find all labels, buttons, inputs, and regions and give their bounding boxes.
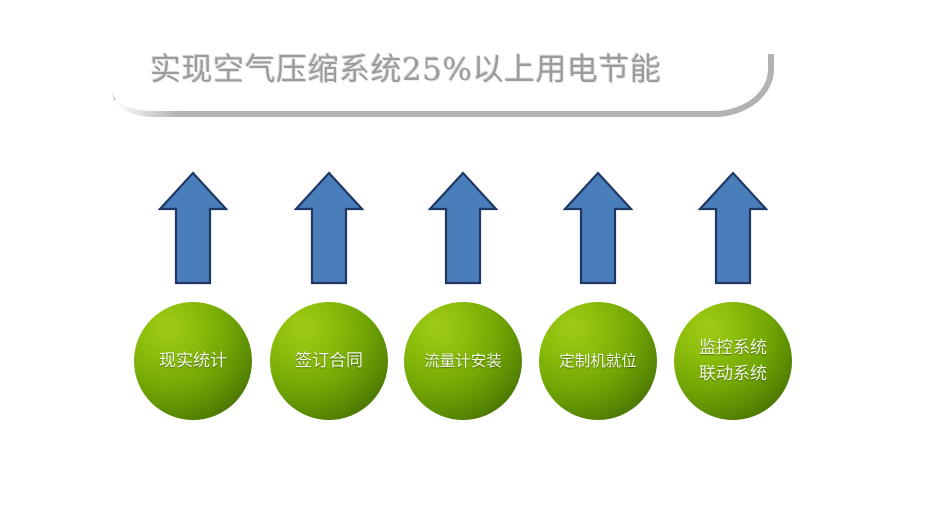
step-label-5: 监控系统 联动系统 xyxy=(699,335,767,387)
step-label-4: 定制机就位 xyxy=(559,350,637,373)
arrow-up-icon-3 xyxy=(428,170,498,286)
page-title: 实现空气压缩系统25%以上用电节能 xyxy=(150,48,730,92)
step-circle-4[interactable]: 定制机就位 xyxy=(539,302,657,420)
step-circle-5[interactable]: 监控系统 联动系统 xyxy=(674,302,792,420)
step-label-3: 流量计安装 xyxy=(424,350,502,373)
step-label-5-line2: 联动系统 xyxy=(699,364,767,384)
arrow-up-icon-4 xyxy=(563,170,633,286)
step-label-5-line1: 监控系统 xyxy=(699,338,767,358)
step-circle-2[interactable]: 签订合同 xyxy=(270,302,388,420)
arrow-up-icon-1 xyxy=(158,170,228,286)
step-circle-1[interactable]: 现实统计 xyxy=(134,302,252,420)
step-circle-3[interactable]: 流量计安装 xyxy=(404,302,522,420)
slide-canvas: 实现空气压缩系统25%以上用电节能 现实统计 签订合同 流量计安装 定制机就位 xyxy=(0,0,945,529)
step-label-1: 现实统计 xyxy=(159,350,227,373)
arrow-up-icon-2 xyxy=(294,170,364,286)
step-label-2: 签订合同 xyxy=(295,350,363,373)
arrow-up-icon-5 xyxy=(698,170,768,286)
